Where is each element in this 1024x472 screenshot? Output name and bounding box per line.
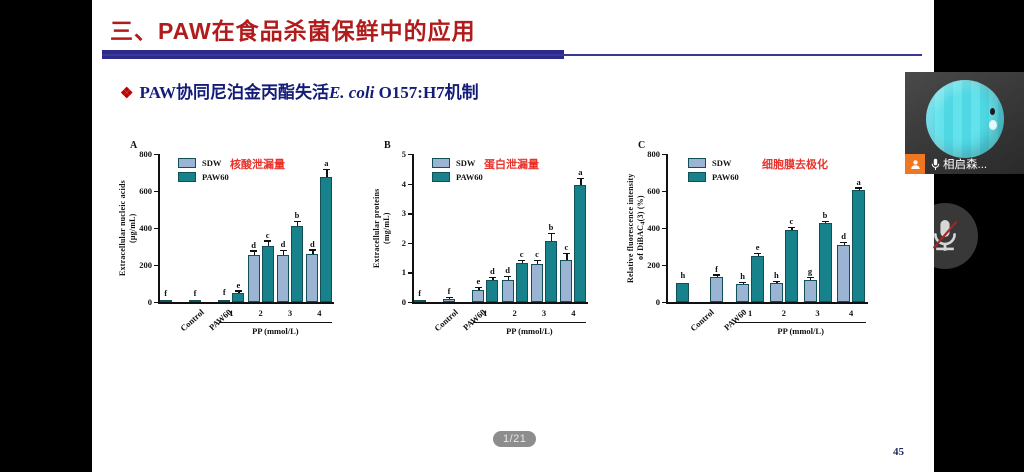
x-axis (158, 302, 334, 304)
error-cap (518, 260, 525, 261)
bar-sdw-2 (770, 283, 783, 302)
x-axis-label: PP (mmol/L) (252, 326, 299, 336)
slide-title: 三、PAW在食品杀菌保鲜中的应用 (110, 12, 476, 46)
y-axis (158, 154, 160, 302)
subtitle-species-name: E. coli (329, 83, 374, 102)
y-tick (408, 184, 412, 185)
avatar-highlight (989, 120, 997, 130)
error-bar (254, 252, 255, 255)
bar-sdw-PAW60 (443, 299, 455, 302)
participant-name-bar: 相启森... (905, 154, 987, 174)
significance-label: a (578, 167, 582, 177)
error-cap (788, 227, 795, 228)
chart-legend: SDWPAW60 (688, 158, 739, 186)
error-bar (580, 179, 581, 186)
y-tick (408, 213, 412, 214)
error-cap (754, 253, 761, 254)
bar-sdw-3 (277, 255, 289, 302)
bar-sdw-4 (837, 245, 850, 302)
slide-subtitle: ❖PAW协同尼泊金丙酯失活E. coli O157:H7机制 (120, 78, 479, 103)
chart-annotation-title: 蛋白泄漏量 (484, 156, 539, 172)
legend-label: PAW60 (456, 172, 483, 182)
bar-paw60-4 (574, 185, 586, 302)
chart-panel-c: C0200400600800fhhgdhecbaControlPAW601234… (614, 132, 914, 357)
y-tick (154, 154, 158, 155)
error-cap (822, 221, 829, 222)
error-bar (297, 222, 298, 225)
x-category-label: 4 (571, 308, 575, 318)
y-tick (408, 243, 412, 244)
error-bar (844, 243, 845, 245)
x-category-label: 4 (317, 308, 321, 318)
microphone-icon (930, 158, 941, 171)
significance-label: d (841, 231, 846, 241)
legend-label: PAW60 (202, 172, 229, 182)
title-rule-thin (102, 54, 922, 56)
error-cap (563, 253, 570, 254)
error-cap (807, 277, 814, 278)
legend-label: SDW (202, 158, 221, 168)
significance-label: d (490, 266, 495, 276)
avatar (926, 80, 1004, 158)
y-tick (154, 265, 158, 266)
error-cap (235, 290, 242, 291)
subtitle-text-pre: PAW协同尼泊金丙酯失活 (139, 83, 329, 102)
x-category-label: Control (432, 307, 460, 333)
legend-swatch (688, 158, 706, 168)
x-category-label: 4 (849, 308, 853, 318)
significance-label: f (223, 287, 226, 297)
y-tick-label: 4 (402, 179, 406, 189)
bar-sdw-PAW60 (189, 300, 201, 302)
error-bar (776, 282, 777, 283)
error-cap (840, 242, 847, 243)
chart-annotation-title: 细胞膜去极化 (762, 156, 828, 172)
y-tick (408, 154, 412, 155)
bullet-diamond-icon: ❖ (120, 86, 133, 102)
x-category-label: 3 (542, 308, 546, 318)
bar-sdw-Control (414, 300, 426, 302)
avatar-eye-icon (990, 108, 995, 115)
error-cap (739, 282, 746, 283)
y-tick-label: 0 (148, 297, 152, 307)
x-category-label: 2 (782, 308, 786, 318)
x-category-label: 1 (483, 308, 487, 318)
significance-label: c (564, 242, 568, 252)
bar-sdw-3 (531, 264, 543, 302)
panel-letter: C (638, 140, 645, 151)
error-cap (713, 274, 720, 275)
error-cap (489, 277, 496, 278)
error-bar (743, 283, 744, 284)
bar-paw60-3 (819, 223, 832, 302)
significance-label: f (194, 288, 197, 298)
error-bar (717, 276, 718, 277)
chart-legend: SDWPAW60 (178, 158, 229, 186)
y-axis-label: Relative fluorescence intensityof DiBAC4… (626, 154, 650, 302)
figure-row: A0200400600800fffdddecbaControlPAW601234… (114, 132, 914, 357)
error-bar (522, 261, 523, 263)
chart-panel-b: B012345ffedccdcbaControlPAW601234PP (mmo… (372, 132, 607, 357)
bar-paw60-2 (785, 230, 798, 302)
error-bar (566, 254, 567, 260)
panel-letter: A (130, 140, 137, 151)
legend-swatch (432, 172, 450, 182)
significance-label: d (310, 239, 315, 249)
microphone-muted-icon (930, 218, 960, 254)
significance-label: d (251, 240, 256, 250)
error-bar (825, 222, 826, 223)
pp-range-line (219, 322, 332, 323)
significance-label: c (266, 230, 270, 240)
significance-label: f (418, 288, 421, 298)
error-cap (309, 249, 316, 250)
x-category-label: 3 (288, 308, 292, 318)
page-indicator[interactable]: 1/21 (493, 431, 536, 447)
legend-swatch (688, 172, 706, 182)
bar-sdw-1 (218, 300, 230, 302)
error-cap (534, 260, 541, 261)
error-cap (577, 178, 584, 179)
y-tick (408, 302, 412, 303)
error-bar (492, 278, 493, 279)
y-tick-label: 3 (402, 208, 406, 218)
significance-label: b (823, 210, 828, 220)
bar-sdw-1 (736, 284, 749, 302)
legend-item: SDW (688, 158, 739, 168)
error-cap (250, 250, 257, 251)
x-category-label: PAW60 (721, 307, 748, 332)
legend-swatch (178, 158, 196, 168)
legend-swatch (432, 158, 450, 168)
bar-paw60-1 (486, 280, 498, 302)
x-category-label: 2 (513, 308, 517, 318)
screen: 三、PAW在食品杀菌保鲜中的应用 ❖PAW协同尼泊金丙酯失活E. coli O1… (0, 0, 1024, 472)
bar-paw60-4 (852, 190, 865, 302)
error-bar (283, 251, 284, 255)
error-cap (475, 287, 482, 288)
x-axis (666, 302, 868, 304)
significance-label: h (774, 270, 779, 280)
error-cap (280, 250, 287, 251)
y-tick (154, 228, 158, 229)
bar-paw60-1 (232, 293, 244, 302)
significance-label: f (715, 264, 718, 274)
y-tick-label: 0 (402, 297, 406, 307)
bar-sdw-3 (804, 280, 817, 302)
chart-annotation-title: 核酸泄漏量 (230, 156, 285, 172)
panel-letter: B (384, 140, 391, 151)
y-axis-label: Extracellular nucleic acids(μg/mL) (118, 154, 142, 302)
bar-sdw-PAW60 (710, 277, 723, 302)
significance-label: a (324, 158, 328, 168)
error-bar (312, 251, 313, 255)
significance-label: c (535, 249, 539, 259)
y-tick-label: 1 (402, 267, 406, 277)
significance-label: e (756, 242, 760, 252)
error-bar (859, 189, 860, 191)
y-tick (154, 191, 158, 192)
x-category-label: Control (178, 307, 206, 333)
error-cap (264, 240, 271, 241)
significance-label: a (857, 177, 861, 187)
legend-label: SDW (712, 158, 731, 168)
error-cap (504, 276, 511, 277)
pp-range-line (735, 322, 866, 323)
error-bar (238, 292, 239, 293)
error-bar (449, 298, 450, 299)
legend-item: PAW60 (688, 172, 739, 182)
x-category-label: 2 (259, 308, 263, 318)
x-category-label: 1 (229, 308, 233, 318)
bar-paw60-1 (751, 256, 764, 302)
y-tick (154, 302, 158, 303)
significance-label: g (808, 266, 812, 276)
error-cap (855, 187, 862, 188)
legend-swatch (178, 172, 196, 182)
y-tick (662, 154, 666, 155)
legend-item: PAW60 (432, 172, 483, 182)
significance-label: d (505, 265, 510, 275)
legend-label: PAW60 (712, 172, 739, 182)
bar-paw60-2 (262, 246, 274, 302)
error-bar (478, 288, 479, 290)
legend-label: SDW (456, 158, 475, 168)
significance-label: h (740, 271, 745, 281)
y-axis (666, 154, 668, 302)
person-icon (905, 154, 925, 174)
chart-panel-a: A0200400600800fffdddecbaControlPAW601234… (114, 132, 364, 357)
chart-legend: SDWPAW60 (432, 158, 483, 186)
significance-label: c (789, 216, 793, 226)
error-bar (810, 278, 811, 280)
y-tick (408, 272, 412, 273)
bar-sdw-4 (306, 254, 318, 302)
legend-item: SDW (178, 158, 229, 168)
error-bar (508, 277, 509, 280)
legend-item: PAW60 (178, 172, 229, 182)
presentation-slide: 三、PAW在食品杀菌保鲜中的应用 ❖PAW协同尼泊金丙酯失活E. coli O1… (92, 0, 934, 472)
bar-paw60-2 (516, 263, 528, 302)
error-cap (294, 221, 301, 222)
y-axis-label: Extracellular proteins(mg/mL) (372, 154, 396, 302)
y-tick (662, 265, 666, 266)
subtitle-text-post: O157:H7机制 (374, 83, 478, 102)
y-tick (662, 302, 666, 303)
bar-sdw-1 (472, 290, 484, 302)
y-tick (662, 191, 666, 192)
x-category-label: 3 (815, 308, 819, 318)
x-axis-label: PP (mmol/L) (506, 326, 553, 336)
bar-sdw-2 (248, 255, 260, 302)
y-tick-label: 2 (402, 238, 406, 248)
bar-sdw-4 (560, 260, 572, 302)
error-bar (537, 261, 538, 263)
error-cap (773, 281, 780, 282)
bar-sdw-Control (160, 300, 172, 302)
bar-paw60-Control (676, 283, 689, 302)
y-tick-label: 0 (656, 297, 660, 307)
participant-name: 相启森... (943, 156, 987, 172)
significance-label: d (281, 239, 286, 249)
x-axis (412, 302, 588, 304)
legend-item: SDW (432, 158, 483, 168)
significance-label: b (549, 222, 554, 232)
significance-label: e (476, 276, 480, 286)
x-axis-label: PP (mmol/L) (777, 326, 824, 336)
error-bar (758, 254, 759, 256)
significance-label: c (520, 249, 524, 259)
error-cap (446, 297, 453, 298)
y-tick (662, 228, 666, 229)
slide-page-number: 45 (893, 446, 904, 458)
error-cap (323, 169, 330, 170)
bar-paw60-4 (320, 177, 332, 302)
significance-label: b (295, 210, 300, 220)
pp-range-line (473, 322, 586, 323)
error-bar (326, 170, 327, 177)
participant-video-tile[interactable]: 相启森... (905, 72, 1024, 174)
significance-label: h (680, 270, 685, 280)
x-category-label: Control (688, 307, 716, 333)
significance-label: f (448, 286, 451, 296)
error-bar (551, 234, 552, 241)
error-bar (791, 228, 792, 230)
error-bar (268, 242, 269, 246)
error-cap (548, 233, 555, 234)
y-axis (412, 154, 414, 302)
x-category-label: 1 (748, 308, 752, 318)
significance-label: e (236, 280, 240, 290)
y-tick-label: 5 (402, 149, 406, 159)
bar-paw60-3 (291, 226, 303, 302)
bar-sdw-2 (502, 280, 514, 302)
mute-toggle-button[interactable] (912, 203, 978, 269)
significance-label: f (164, 288, 167, 298)
bar-paw60-3 (545, 241, 557, 302)
